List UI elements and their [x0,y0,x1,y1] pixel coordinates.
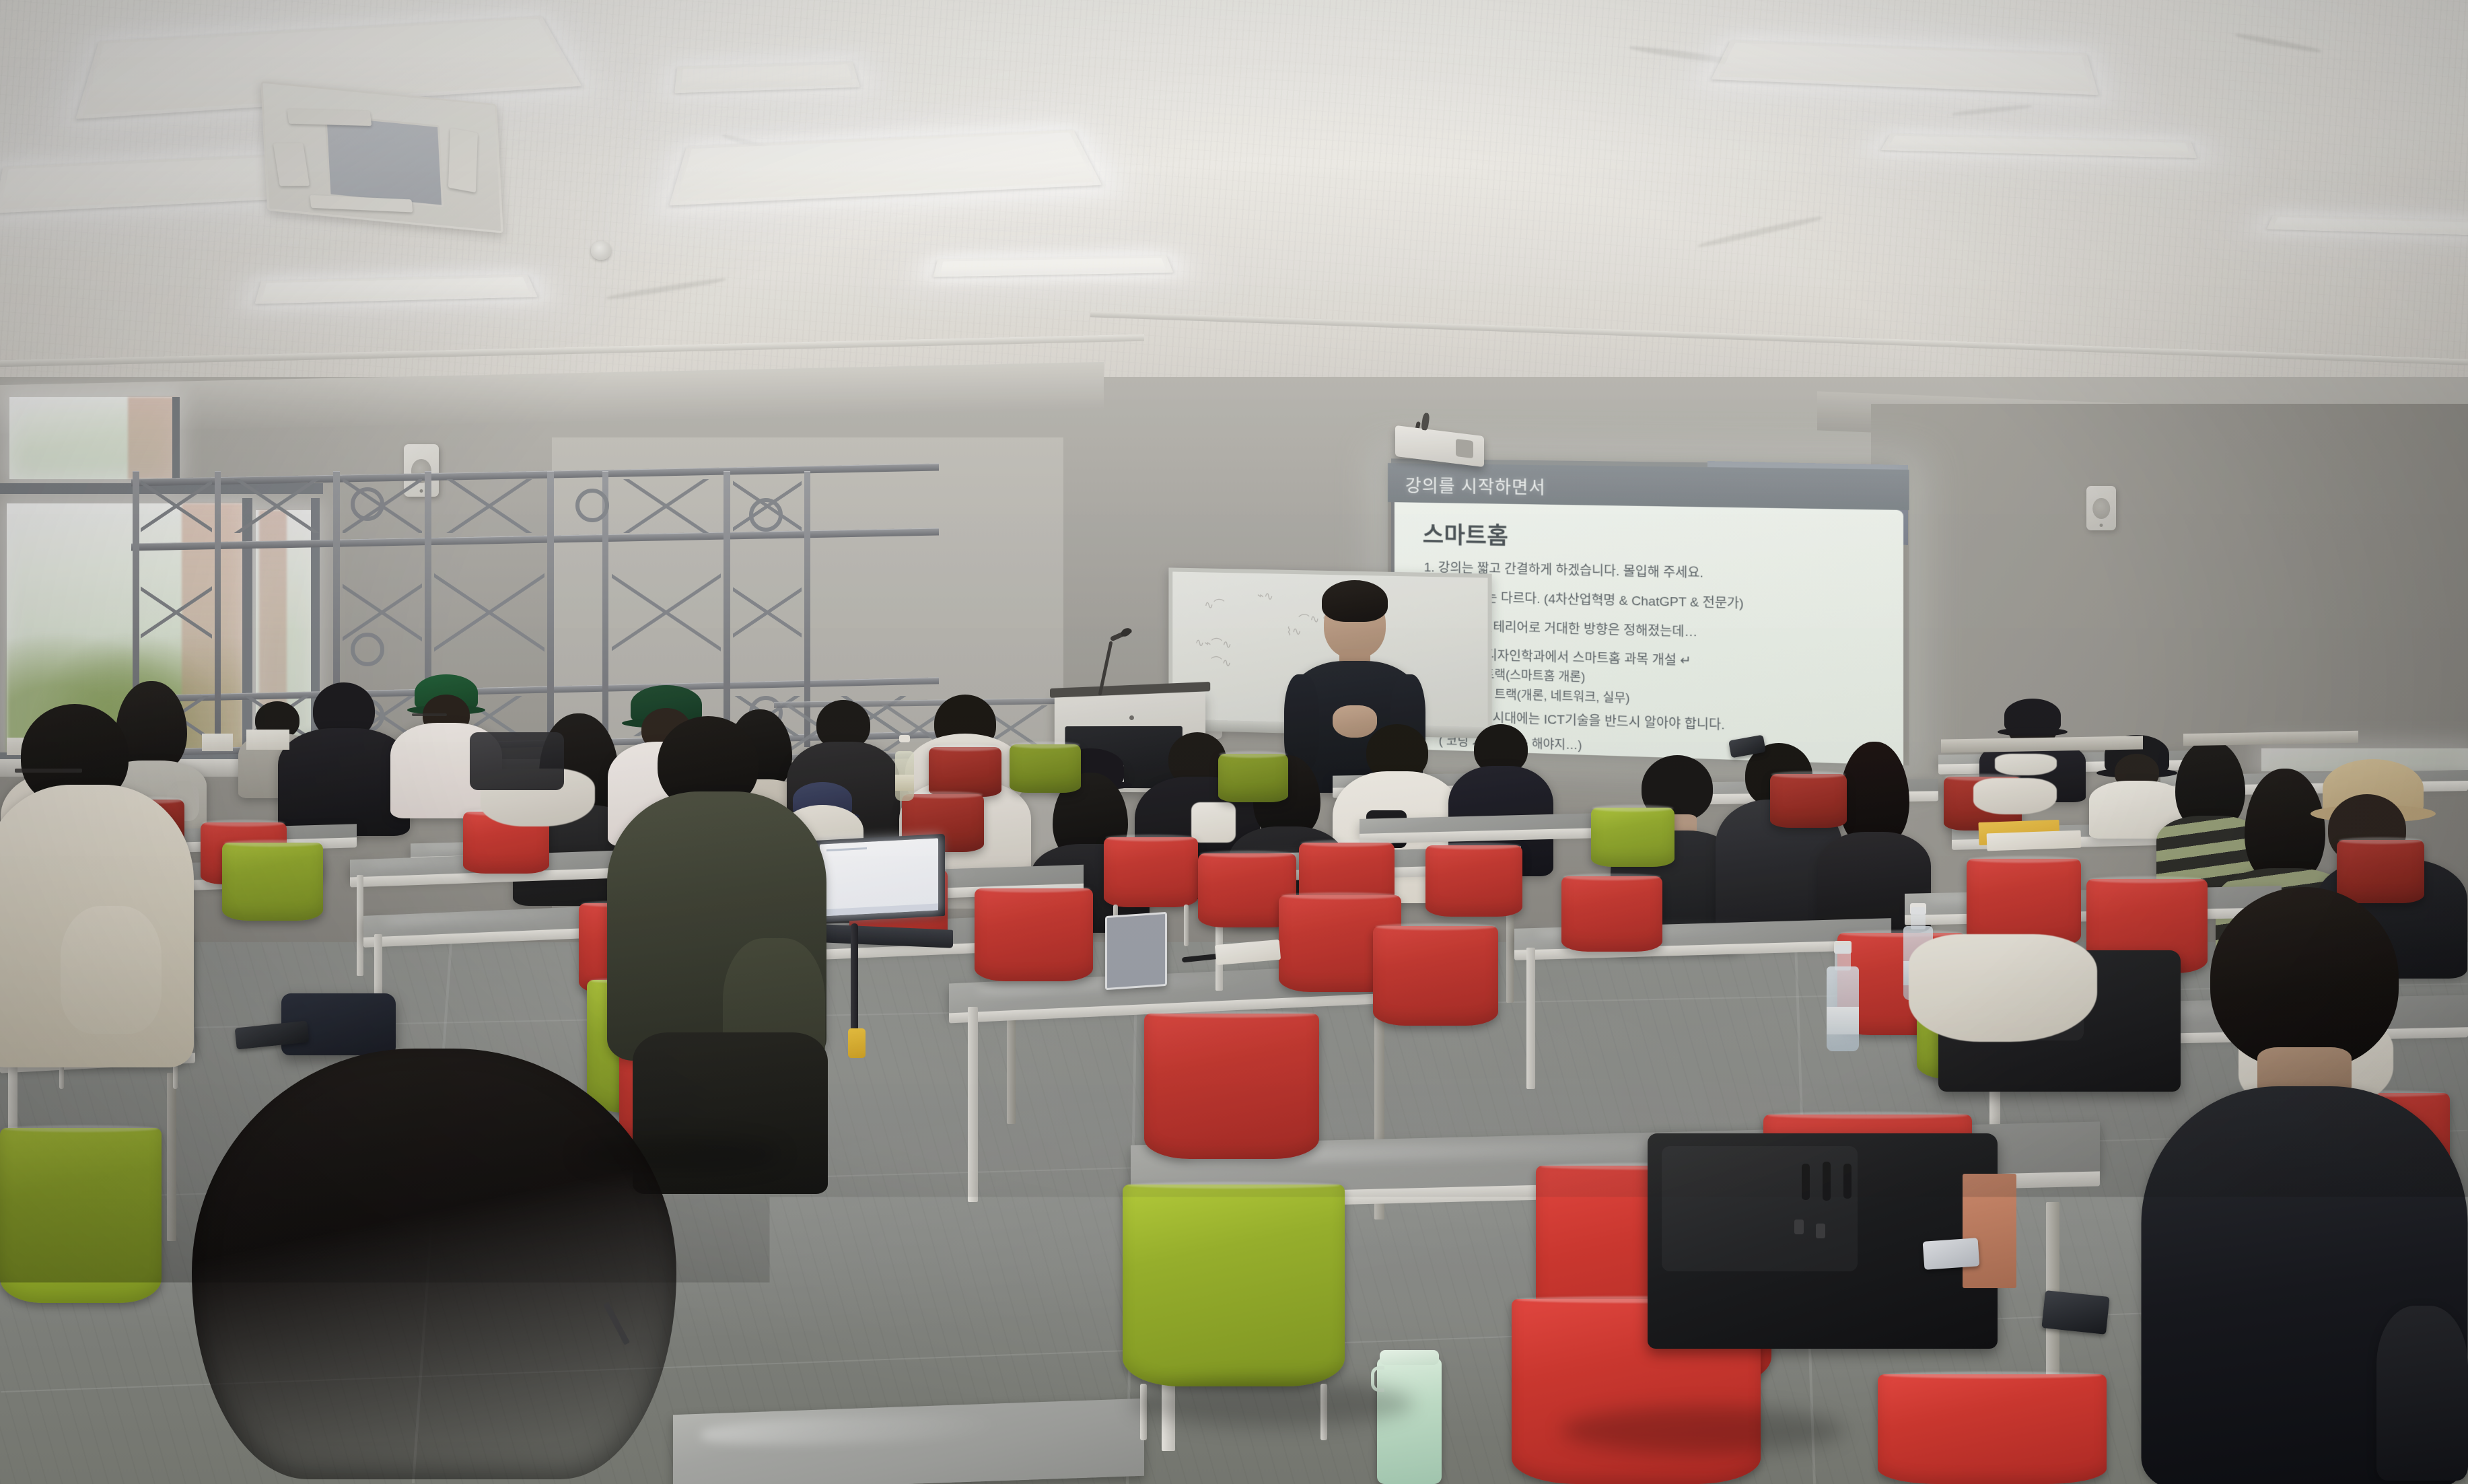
chair[interactable] [1144,1014,1319,1159]
draped-cloth [1973,778,2057,814]
classroom-photo: 스마트홈전시서 시작단계 강의를 시작하면서 스마트홈 1. 강의는 짧고 간결… [0,0,2468,1484]
student-hair [2245,769,2325,879]
smoke-detector-icon [591,241,611,260]
chair[interactable] [929,747,1001,797]
paper [1987,831,2082,851]
cap-icon [2004,699,2061,732]
student-foreground-hair [188,1049,680,1484]
window-upper [9,397,174,479]
chair[interactable] [1770,774,1847,828]
chair[interactable] [222,843,323,921]
glasses-icon [15,769,82,773]
tablet[interactable] [1105,912,1167,990]
student-hair [192,1049,676,1479]
wall-speaker [2086,486,2116,530]
projector-lens-icon [1456,439,1473,458]
laptop-screen[interactable] [820,838,938,916]
chair[interactable] [1425,845,1522,917]
student-hair [1839,742,1909,843]
slide-bullet: 2. 이제부터는 다르다. (4차산업혁명 & ChatGPT & 전문가) [1424,588,1882,616]
presenter-hair [1322,580,1388,622]
phone[interactable] [2041,1290,2109,1335]
slide-header-text: 강의를 시작하면서 [1405,472,1546,499]
chair[interactable] [1591,808,1674,867]
glasses-icon [412,713,447,716]
draped-sweater [1909,934,2097,1042]
ceiling-light-panel [262,277,530,302]
umbrella[interactable] [843,923,870,1058]
dark-object [470,732,564,790]
white-garment [1995,754,2057,775]
chair[interactable] [1104,837,1198,907]
laptop-lid [813,834,945,923]
student-foreground-left [0,704,195,1081]
ceiling-light-panel [681,64,853,90]
chair[interactable] [1123,1185,1345,1386]
slide-bullet: 1. 강의는 짧고 간결하게 하겠습니다. 몰입해 주세요. [1424,559,1882,586]
chair[interactable] [1373,926,1498,1026]
chair[interactable] [975,888,1093,981]
lectern-indicator [1129,715,1134,720]
chair[interactable] [1218,754,1288,802]
student-torso [2376,1306,2468,1481]
student-head [2210,887,2399,1069]
air-conditioner-unit [260,81,503,233]
model-mockup [202,734,233,751]
laptop[interactable] [813,837,945,945]
chair[interactable] [1010,744,1081,793]
model-mockup [246,730,289,750]
student [2376,1306,2468,1484]
thermos-lid[interactable] [1380,1350,1439,1365]
water-bottle[interactable] [1827,945,1859,1051]
ac-grill [324,114,444,207]
chair[interactable] [0,1128,162,1303]
student-arm [61,906,162,1034]
water-bottle[interactable] [895,739,914,801]
chair[interactable] [1561,876,1662,952]
slide-title: 스마트홈 [1423,516,1509,551]
ceiling-light-panel [940,258,1166,275]
slide-bullet: 3. 스마트+인테리어로 거대한 방향은 정해졌는데… [1424,617,1882,646]
thermos[interactable] [1377,1358,1442,1484]
chair[interactable] [1878,1374,2107,1484]
